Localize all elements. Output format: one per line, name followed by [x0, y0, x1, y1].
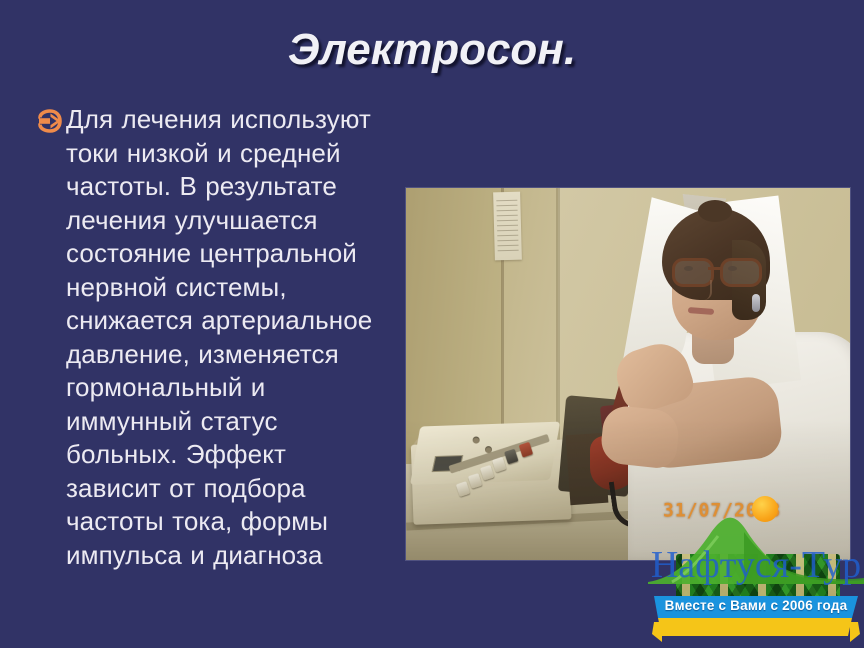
weave-post — [796, 554, 804, 616]
weave-pattern — [676, 554, 840, 616]
watermark-banner: Вместе с Вами с 2006 года — [652, 592, 860, 644]
photo-scene — [406, 188, 850, 560]
bullet-list-item: Для лечения используют токи низкой и сре… — [38, 103, 388, 572]
nose — [698, 280, 712, 300]
lens-right — [720, 258, 762, 287]
presentation-slide: Электросон. Для лечения используют токи … — [0, 0, 864, 648]
watermark-basket-weave — [676, 554, 840, 616]
bullet-text: Для лечения используют токи низкой и сре… — [66, 103, 388, 572]
watermark-tagline: Вместе с Вами с 2006 года — [652, 598, 860, 613]
photo-date-stamp: 31/07/2013 — [663, 499, 781, 521]
weave-post — [682, 554, 690, 616]
glasses-bridge — [708, 267, 722, 270]
body-content: Для лечения используют токи низкой и сре… — [38, 103, 388, 572]
hair-bun — [698, 200, 732, 222]
slide-photo — [406, 188, 850, 560]
wall-notice-paper — [493, 192, 522, 261]
arrow-bullet-icon — [38, 109, 66, 139]
weave-post — [828, 554, 836, 616]
eyeglasses — [668, 258, 764, 282]
scene-vignette — [406, 420, 850, 560]
weave-post — [720, 554, 728, 616]
page-title: Электросон. — [0, 26, 864, 74]
earring — [752, 294, 760, 312]
weave-post — [758, 554, 766, 616]
